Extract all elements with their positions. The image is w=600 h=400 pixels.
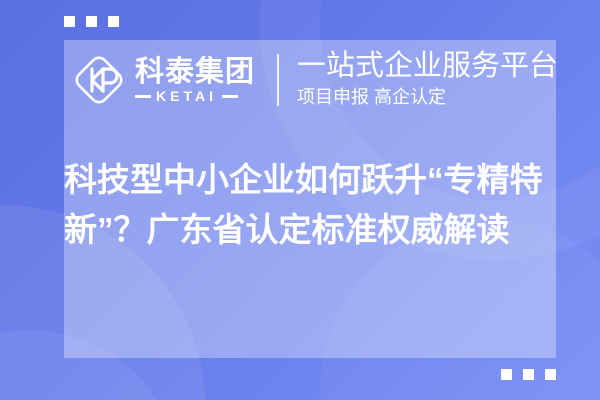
logo-rule-left-icon [135, 95, 151, 98]
promo-banner: 科泰集团 KETAI 一站式企业服务平台 项目申报 高企认定 科技型中小企业如何… [0, 0, 600, 400]
vertical-divider [277, 54, 279, 106]
brand-name-en: KETAI [156, 89, 217, 103]
ketai-diamond-kp-monogram-icon [72, 53, 126, 107]
headline-line-1: 科技型中小企业如何跃升“专精特 [64, 155, 564, 205]
decorative-dots-top-left [64, 16, 119, 27]
tagline-main: 一站式企业服务平台 [297, 50, 558, 83]
square-dot-icon [523, 369, 534, 380]
tagline-sub: 项目申报 高企认定 [297, 86, 558, 109]
brand-logo-text: 科泰集团 KETAI [135, 57, 255, 103]
logo-rule-right-icon [222, 95, 238, 98]
square-dot-icon [108, 16, 119, 27]
square-dot-icon [545, 369, 556, 380]
tagline: 一站式企业服务平台 项目申报 高企认定 [297, 50, 558, 110]
brand-name-cn: 科泰集团 [135, 57, 255, 87]
decorative-dots-bottom-right [501, 369, 556, 380]
brand-header: 科泰集团 KETAI 一站式企业服务平台 项目申报 高企认定 [64, 44, 556, 116]
page-title: 科技型中小企业如何跃升“专精特 新”？广东省认定标准权威解读 [64, 155, 564, 255]
headline-line-2: 新”？广东省认定标准权威解读 [64, 205, 564, 255]
brand-logo: 科泰集团 KETAI [64, 53, 255, 107]
square-dot-icon [64, 16, 75, 27]
square-dot-icon [501, 369, 512, 380]
brand-name-en-row: KETAI [135, 89, 255, 103]
square-dot-icon [86, 16, 97, 27]
